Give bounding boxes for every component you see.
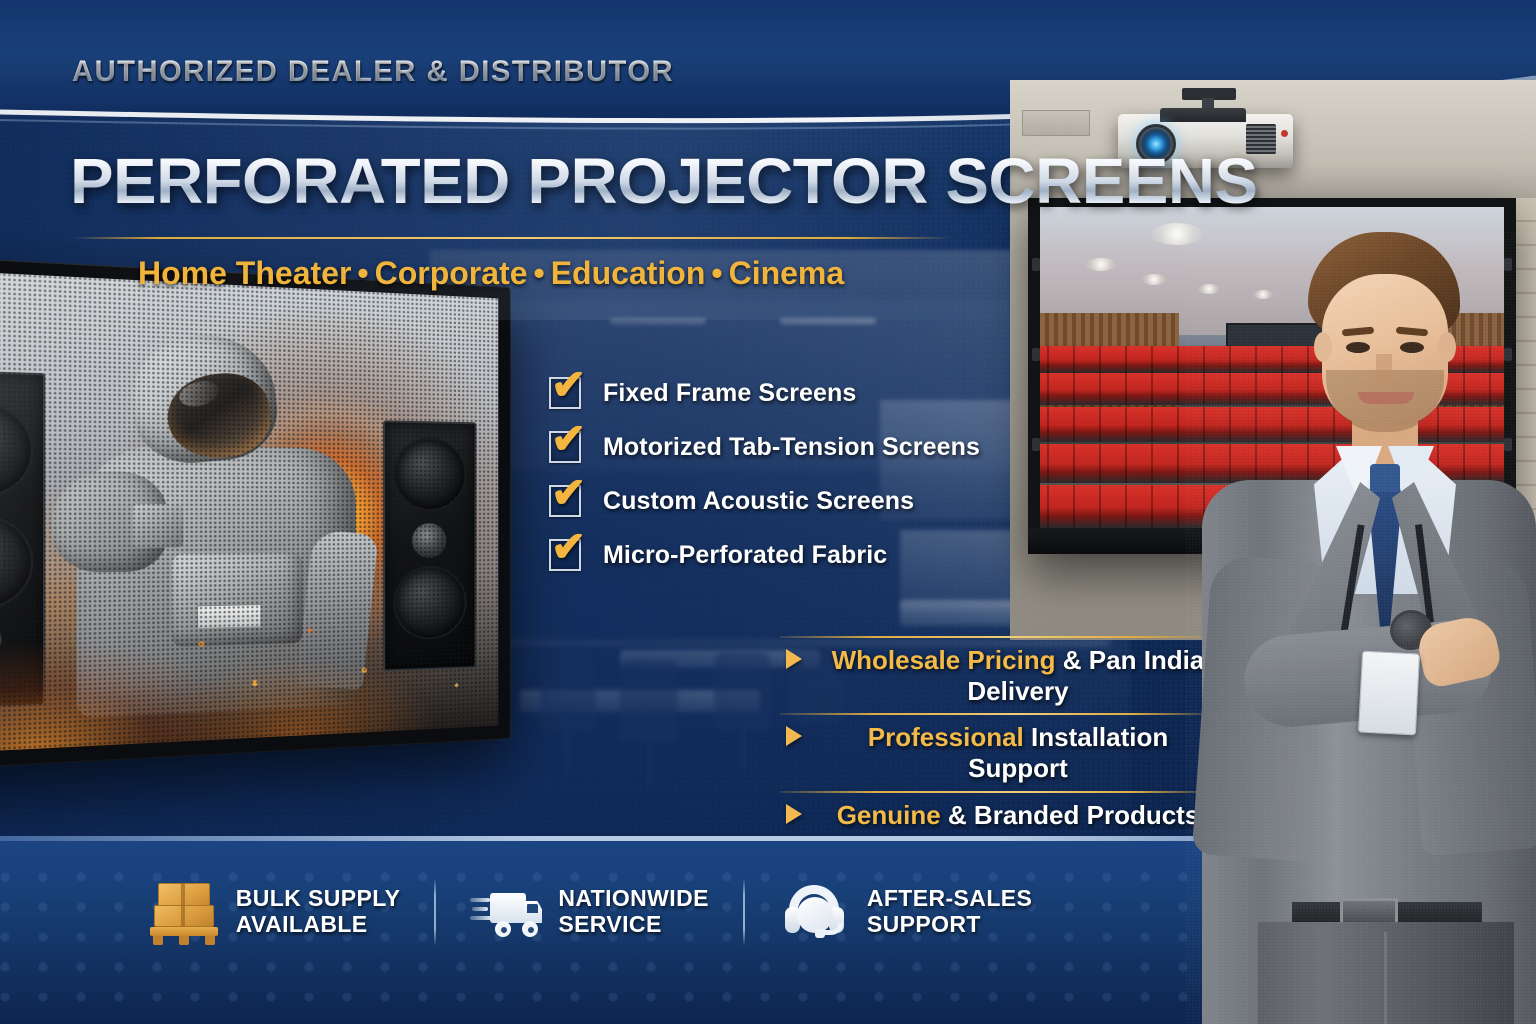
subtitle-sep-0: •	[351, 255, 374, 291]
triangle-right-icon	[786, 804, 802, 824]
perforated-screen-panel	[0, 256, 510, 770]
badge-bulk-supply: BULK SUPPLY AVAILABLE	[114, 879, 435, 945]
id-badge	[1358, 651, 1420, 736]
feature-label: Fixed Frame Screens	[603, 379, 856, 408]
triangle-right-icon	[786, 649, 802, 669]
businessman-photo	[1186, 232, 1536, 1024]
subtitle-item-1: Corporate	[375, 255, 528, 291]
badge-after-sales-support: AFTER-SALES SUPPORT	[745, 879, 1066, 945]
checkbox-checked-icon: ✔	[549, 431, 581, 463]
benefit-rest: & Branded Products	[941, 800, 1200, 830]
benefit-highlight: Professional	[868, 722, 1024, 752]
subtitle-item-0: Home Theater	[138, 255, 351, 291]
subtitle-item-3: Cinema	[729, 255, 845, 291]
gold-divider	[72, 237, 952, 239]
list-item: Professional Installation Support	[780, 715, 1212, 790]
checkbox-checked-icon: ✔	[549, 377, 581, 409]
list-item: ✔ Micro-Perforated Fabric	[549, 528, 980, 582]
list-item: ✔ Custom Acoustic Screens	[549, 474, 980, 528]
badge-label: AFTER-SALES SUPPORT	[867, 886, 1032, 938]
benefits-list: Wholesale Pricing & Pan India Delivery P…	[780, 636, 1212, 837]
benefit-text: Wholesale Pricing & Pan India Delivery	[824, 645, 1212, 706]
benefit-highlight: Wholesale Pricing	[832, 645, 1056, 675]
badge-label: NATIONWIDE SERVICE	[558, 886, 709, 938]
delivery-truck-icon	[470, 879, 542, 945]
list-item: ✔ Fixed Frame Screens	[549, 366, 980, 420]
main-title-text: PERFORATED PROJECTOR SCREENS	[70, 148, 1258, 215]
list-item: Wholesale Pricing & Pan India Delivery	[780, 638, 1212, 713]
badge-nationwide-service: NATIONWIDE SERVICE	[436, 879, 743, 945]
list-item: Genuine & Branded Products	[780, 793, 1212, 838]
checkbox-checked-icon: ✔	[549, 485, 581, 517]
subtitle-sep-1: •	[528, 255, 551, 291]
feature-label: Motorized Tab-Tension Screens	[603, 433, 980, 462]
benefit-text: Genuine & Branded Products	[824, 800, 1212, 831]
ceiling-vent	[1022, 110, 1090, 136]
pallet-boxes-icon	[148, 879, 220, 945]
benefit-text: Professional Installation Support	[824, 722, 1212, 783]
feature-checklist: ✔ Fixed Frame Screens ✔ Motorized Tab-Te…	[549, 366, 980, 582]
headset-support-icon	[779, 879, 851, 945]
subtitle-item-2: Education	[551, 255, 706, 291]
badge-label: BULK SUPPLY AVAILABLE	[236, 886, 401, 938]
subtitle-sep-2: •	[705, 255, 728, 291]
promotional-banner: AUTHORIZED DEALER & DISTRIBUTOR AUTHORIZ…	[0, 0, 1536, 1024]
feature-label: Custom Acoustic Screens	[603, 487, 914, 516]
page-title: PERFORATED PROJECTOR SCREENS	[70, 148, 1234, 215]
subtitle-text: Home Theater•Corporate•Education•Cinema	[138, 255, 844, 292]
triangle-right-icon	[786, 726, 802, 746]
checkbox-checked-icon: ✔	[549, 539, 581, 571]
benefit-highlight: Genuine	[837, 800, 941, 830]
eyebrow-text: AUTHORIZED DEALER & DISTRIBUTOR	[72, 55, 674, 89]
in-wall-speaker-right	[383, 420, 476, 671]
list-item: ✔ Motorized Tab-Tension Screens	[549, 420, 980, 474]
feature-label: Micro-Perforated Fabric	[603, 541, 887, 570]
